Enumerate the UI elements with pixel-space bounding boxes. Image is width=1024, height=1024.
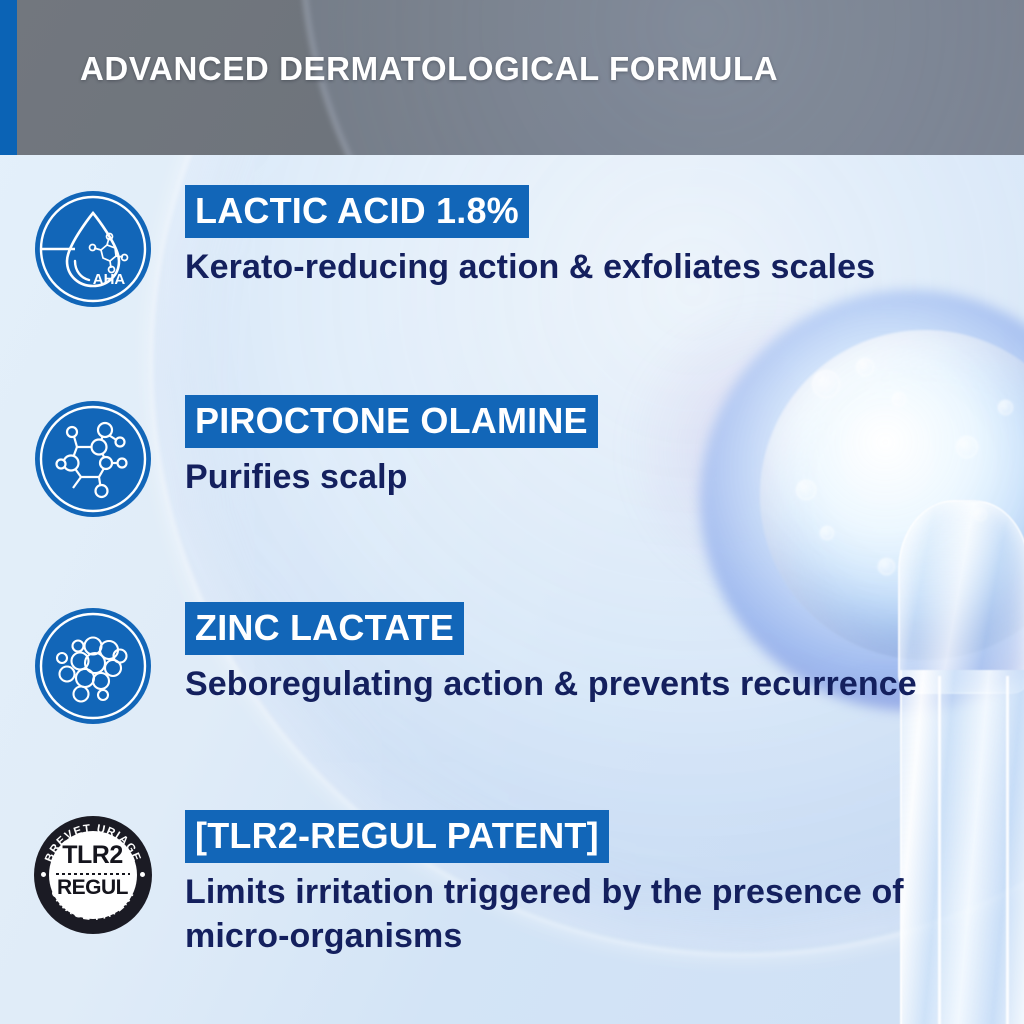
feature-list: AHA LACTIC ACID 1.8% Kerato-reducing act… xyxy=(0,155,1024,1024)
ingredient-description: Limits irritation triggered by the prese… xyxy=(185,871,1014,958)
molecule-icon xyxy=(35,401,151,517)
feature-row: ZINC LACTATE Seboregulating action & pre… xyxy=(0,602,1024,724)
feature-icon-slot: BREVET URIAGE URIAGE PATENT TLR2 REGUL xyxy=(0,810,185,934)
badge-line-1: TLR2 xyxy=(34,843,152,868)
badge-divider xyxy=(56,873,130,875)
feature-icon-slot xyxy=(0,395,185,517)
badge-line-2: REGUL xyxy=(34,877,152,898)
aha-droplet-icon: AHA xyxy=(35,191,151,307)
feature-text-slot: LACTIC ACID 1.8% Kerato-reducing action … xyxy=(185,185,1024,290)
ingredient-description: Seboregulating action & prevents recurre… xyxy=(185,663,1014,707)
tlr2-regul-patent-badge: BREVET URIAGE URIAGE PATENT TLR2 REGUL xyxy=(34,816,152,934)
feature-row: PIROCTONE OLAMINE Purifies scalp xyxy=(0,395,1024,517)
feature-text-slot: PIROCTONE OLAMINE Purifies scalp xyxy=(185,395,1024,500)
feature-text-slot: ZINC LACTATE Seboregulating action & pre… xyxy=(185,602,1024,707)
product-ingredient-poster: ADVANCED DERMATOLOGICAL FORMULA xyxy=(0,0,1024,1024)
feature-icon-slot: AHA xyxy=(0,185,185,307)
page-title: ADVANCED DERMATOLOGICAL FORMULA xyxy=(80,50,778,88)
feature-text-slot: [TLR2-REGUL PATENT] Limits irritation tr… xyxy=(185,810,1024,958)
ingredient-title-chip: LACTIC ACID 1.8% xyxy=(185,185,529,238)
feature-icon-slot xyxy=(0,602,185,724)
header-banner: ADVANCED DERMATOLOGICAL FORMULA xyxy=(0,0,1024,155)
ingredient-description: Purifies scalp xyxy=(185,456,1014,500)
ingredient-title-chip: [TLR2-REGUL PATENT] xyxy=(185,810,609,863)
header-accent-bar xyxy=(0,0,17,155)
ingredient-title-chip: PIROCTONE OLAMINE xyxy=(185,395,598,448)
feature-row: BREVET URIAGE URIAGE PATENT TLR2 REGUL [… xyxy=(0,810,1024,958)
aha-label: AHA xyxy=(92,271,125,288)
ingredient-title-chip: ZINC LACTATE xyxy=(185,602,464,655)
ingredient-description: Kerato-reducing action & exfoliates scal… xyxy=(185,246,1014,290)
feature-row: AHA LACTIC ACID 1.8% Kerato-reducing act… xyxy=(0,185,1024,307)
cell-cluster-icon xyxy=(35,608,151,724)
